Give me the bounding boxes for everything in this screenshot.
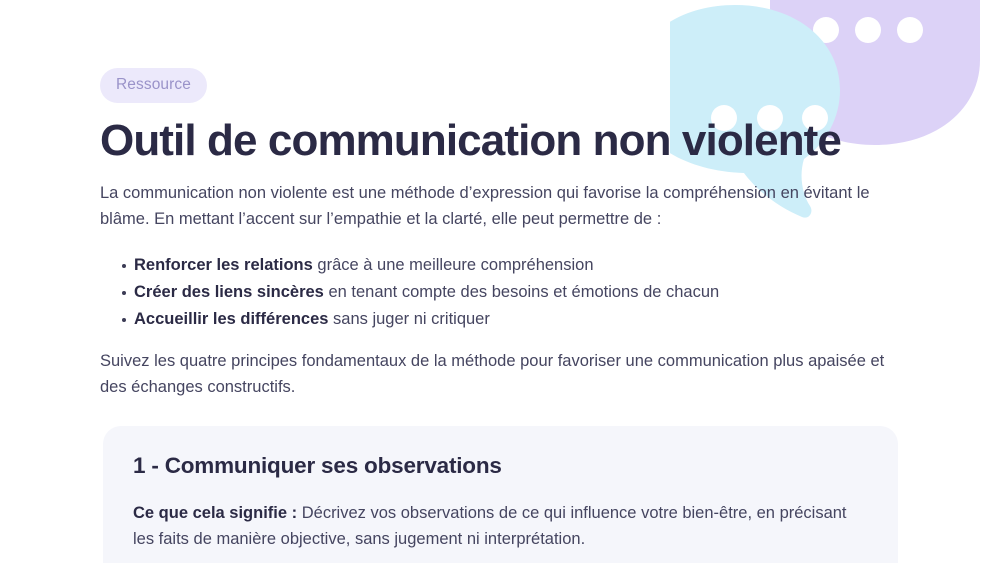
- list-item: Accueillir les différences sans juger ni…: [122, 306, 922, 333]
- principle-card-body-lead: Ce que cela signifie :: [133, 504, 297, 522]
- outro-paragraph: Suivez les quatre principes fondamentaux…: [100, 349, 900, 400]
- page-root: Ressource Outil de communication non vio…: [0, 0, 1000, 563]
- list-item-rest: sans juger ni critiquer: [328, 310, 489, 328]
- list-item: Renforcer les relations grâce à une meil…: [122, 252, 922, 279]
- resource-badge: Ressource: [100, 68, 207, 103]
- list-item-rest: en tenant compte des besoins et émotions…: [324, 283, 719, 301]
- list-item-lead: Renforcer les relations: [134, 256, 313, 274]
- principle-card-heading: 1 - Communiquer ses observations: [133, 452, 868, 479]
- list-item-rest: grâce à une meilleure compréhension: [313, 256, 594, 274]
- list-item: Créer des liens sincères en tenant compt…: [122, 279, 922, 306]
- principle-card-1: 1 - Communiquer ses observations Ce que …: [103, 426, 898, 563]
- page-title: Outil de communication non violente: [100, 117, 900, 165]
- intro-paragraph: La communication non violente est une mé…: [100, 181, 900, 232]
- principle-card-body: Ce que cela signifie : Décrivez vos obse…: [133, 501, 868, 552]
- list-item-lead: Créer des liens sincères: [134, 283, 324, 301]
- list-item-lead: Accueillir les différences: [134, 310, 328, 328]
- benefits-list: Renforcer les relations grâce à une meil…: [100, 252, 922, 332]
- main-content: Ressource Outil de communication non vio…: [0, 0, 1000, 563]
